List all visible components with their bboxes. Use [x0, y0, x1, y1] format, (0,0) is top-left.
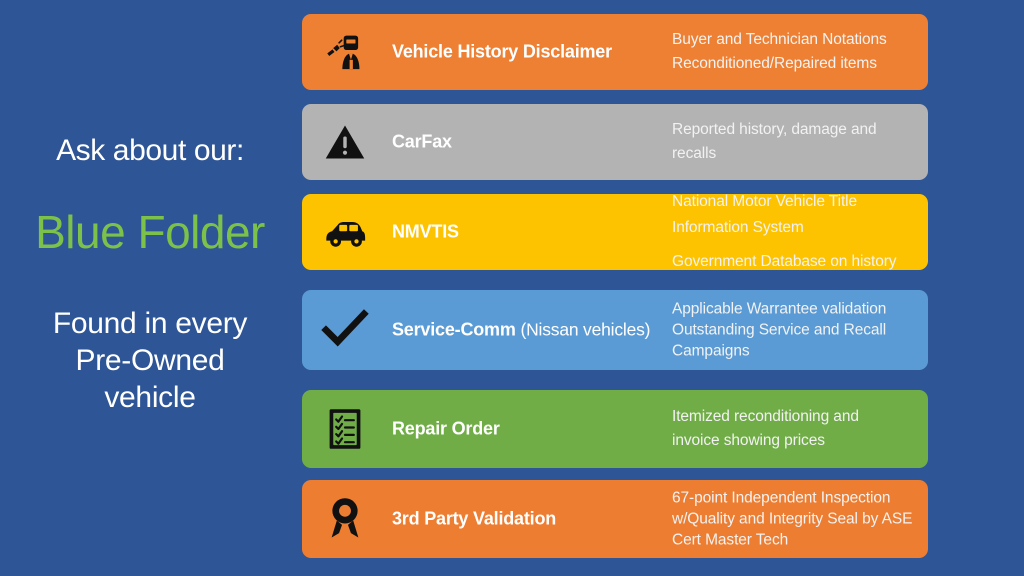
desc-line: Reported history, damage and: [672, 118, 942, 142]
card-nmvtis[interactable]: NMVTIS National Motor Vehicle Title Info…: [302, 194, 928, 270]
desc-line: 67-point Independent Inspection: [672, 488, 942, 509]
card-description: Itemized reconditioning and invoice show…: [672, 405, 942, 453]
desc-line: Applicable Warrantee validation: [672, 299, 942, 320]
card-title: Service-Comm (Nissan vehicles): [392, 320, 650, 341]
award-ribbon-icon: [320, 494, 370, 544]
card-service-comm[interactable]: Service-Comm (Nissan vehicles) Applicabl…: [302, 290, 928, 370]
card-list: Vehicle History Disclaimer Buyer and Tec…: [302, 0, 928, 576]
card-title: CarFax: [392, 132, 452, 153]
warning-triangle-icon: [320, 117, 370, 167]
found-line-3: vehicle: [0, 379, 300, 416]
desc-line: Cert Master Tech: [672, 530, 942, 551]
desc-line: Government Database on history: [672, 249, 942, 275]
ask-about-our-label: Ask about our:: [0, 134, 300, 168]
desc-line: National Motor Vehicle Title: [672, 189, 942, 215]
card-title: 3rd Party Validation: [392, 509, 556, 530]
found-in-every-block: Found in every Pre-Owned vehicle: [0, 305, 300, 416]
desc-line: Campaigns: [672, 341, 942, 362]
desc-line: Buyer and Technician Notations: [672, 28, 942, 52]
found-line-1: Found in every: [0, 305, 300, 342]
card-title-main: Vehicle History Disclaimer: [392, 42, 612, 62]
card-title: NMVTIS: [392, 222, 459, 243]
blue-folder-heading: Blue Folder: [0, 205, 300, 259]
card-description: National Motor Vehicle Title Information…: [672, 189, 942, 275]
desc-line: Reconditioned/Repaired items: [672, 52, 942, 76]
checkmark-icon: [320, 305, 370, 355]
card-title-main: CarFax: [392, 132, 452, 152]
card-description: Applicable Warrantee validation Outstand…: [672, 299, 942, 362]
desc-line: Information System: [672, 215, 942, 241]
mechanic-welder-icon: [320, 27, 370, 77]
found-line-2: Pre-Owned: [0, 342, 300, 379]
desc-line: Outstanding Service and Recall: [672, 320, 942, 341]
card-title: Vehicle History Disclaimer: [392, 42, 612, 63]
desc-line: recalls: [672, 142, 942, 166]
card-third-party-validation[interactable]: 3rd Party Validation 67-point Independen…: [302, 480, 928, 558]
desc-line: Itemized reconditioning and: [672, 405, 942, 429]
desc-line: w/Quality and Integrity Seal by ASE: [672, 509, 942, 530]
card-title-main: 3rd Party Validation: [392, 509, 556, 529]
card-title-sub: (Nissan vehicles): [520, 320, 650, 340]
card-title-main: Service-Comm: [392, 320, 516, 340]
card-description: Buyer and Technician Notations Reconditi…: [672, 28, 942, 76]
card-description: Reported history, damage and recalls: [672, 118, 942, 166]
desc-line: invoice showing prices: [672, 429, 942, 453]
card-title-main: NMVTIS: [392, 222, 459, 242]
car-icon: [320, 207, 370, 257]
clipboard-checklist-icon: [320, 404, 370, 454]
card-title-main: Repair Order: [392, 419, 500, 439]
slide-canvas: Ask about our: Blue Folder Found in ever…: [0, 0, 1024, 576]
card-description: 67-point Independent Inspection w/Qualit…: [672, 488, 942, 551]
card-vehicle-history-disclaimer[interactable]: Vehicle History Disclaimer Buyer and Tec…: [302, 14, 928, 90]
card-repair-order[interactable]: Repair Order Itemized reconditioning and…: [302, 390, 928, 468]
left-text-panel: Ask about our: Blue Folder Found in ever…: [0, 0, 300, 576]
card-carfax[interactable]: CarFax Reported history, damage and reca…: [302, 104, 928, 180]
card-title: Repair Order: [392, 419, 500, 440]
